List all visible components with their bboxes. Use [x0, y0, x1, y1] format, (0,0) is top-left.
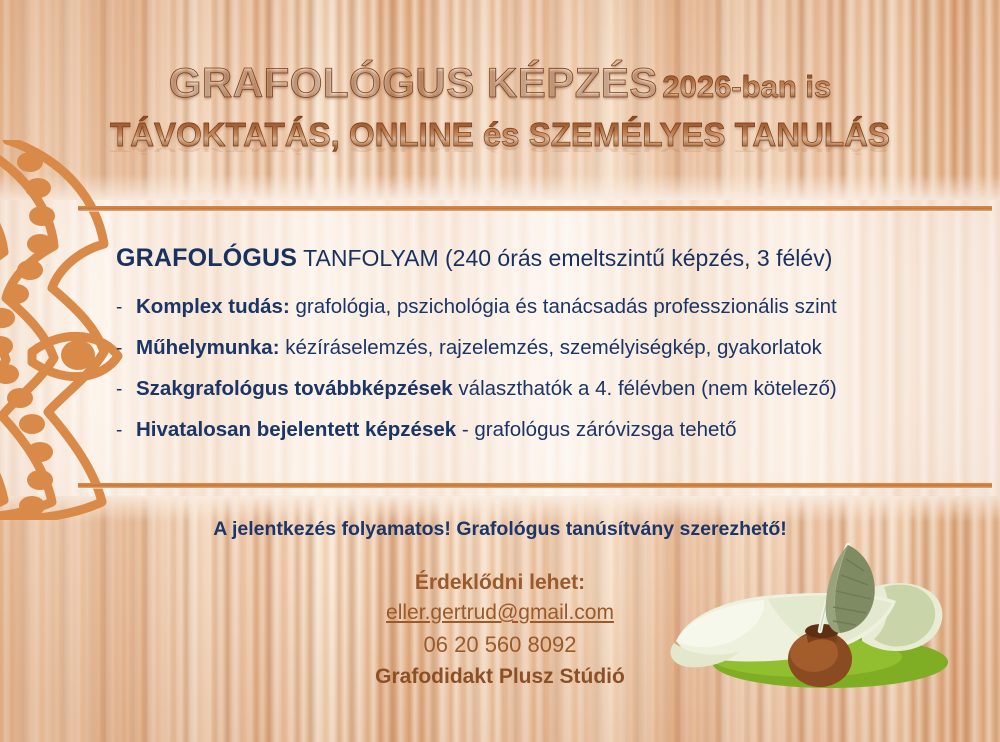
call-to-action-text: A jelentkezés folyamatos! Grafológus tan…	[0, 518, 1000, 541]
contact-phone: 06 20 560 8092	[0, 632, 1000, 658]
list-item-text: Hivatalosan bejelentett képzések - grafo…	[136, 418, 737, 442]
feature-list: - Komplex tudás: grafológia, pszichológi…	[116, 295, 980, 442]
contact-studio-name: Grafodidakt Plusz Stúdió	[0, 665, 1000, 689]
bullet-marker-icon: -	[116, 380, 136, 399]
bullet-marker-icon: -	[116, 339, 136, 358]
course-detail: TANFOLYAM (240 órás emeltszintű képzés, …	[303, 245, 832, 271]
title-line-2-reflection: TÁVOKTATÁS, ONLINE és SZEMÉLYES TANULÁS	[0, 148, 1000, 155]
list-item-bold: Szakgrafológus továbbképzések	[136, 377, 453, 400]
course-title-line: GRAFOLÓGUS TANFOLYAM (240 órás emeltszin…	[116, 244, 980, 273]
divider-top	[78, 206, 992, 211]
list-item-bold: Hivatalosan bejelentett képzések	[136, 418, 456, 441]
list-item-bold: Műhelymunka:	[136, 336, 280, 359]
bullet-marker-icon: -	[116, 298, 136, 317]
list-item-rest: választhatók a 4. félévben (nem kötelező…	[453, 377, 837, 400]
list-item-bold: Komplex tudás:	[136, 295, 290, 318]
list-item: - Hivatalosan bejelentett képzések - gra…	[116, 418, 980, 442]
bullet-marker-icon: -	[116, 421, 136, 440]
list-item-text: Komplex tudás: grafológia, pszichológia …	[136, 295, 837, 319]
list-item-rest: kézíráselemzés, rajzelemzés, személyiség…	[280, 336, 822, 359]
contact-block: A jelentkezés folyamatos! Grafológus tan…	[0, 518, 1000, 689]
contact-email-link[interactable]: eller.gertrud@gmail.com	[0, 601, 1000, 625]
list-item: - Műhelymunka: kézíráselemzés, rajzelemz…	[116, 336, 980, 360]
list-item-rest: - grafológus záróvizsga tehető	[456, 418, 736, 441]
title-line-1: GRAFOLÓGUS KÉPZÉS 2026-ban is	[0, 62, 1000, 104]
list-item-text: Műhelymunka: kézíráselemzés, rajzelemzés…	[136, 336, 822, 360]
title-suffix: 2026-ban is	[662, 69, 831, 104]
list-item: - Komplex tudás: grafológia, pszichológi…	[116, 295, 980, 319]
course-name: GRAFOLÓGUS	[116, 244, 297, 272]
content-block: GRAFOLÓGUS TANFOLYAM (240 órás emeltszin…	[116, 244, 980, 459]
divider-bottom	[78, 483, 992, 488]
list-item: - Szakgrafológus továbbképzések választh…	[116, 377, 980, 401]
poster-canvas: GRAFOLÓGUS KÉPZÉS 2026-ban is TÁVOKTATÁS…	[0, 0, 1000, 742]
contact-label: Érdeklődni lehet:	[0, 571, 1000, 595]
list-item-rest: grafológia, pszichológia és tanácsadás p…	[290, 295, 837, 318]
title-main: GRAFOLÓGUS KÉPZÉS	[169, 59, 658, 106]
headline-block: GRAFOLÓGUS KÉPZÉS 2026-ban is TÁVOKTATÁS…	[0, 62, 1000, 171]
list-item-text: Szakgrafológus továbbképzések választhat…	[136, 377, 837, 401]
